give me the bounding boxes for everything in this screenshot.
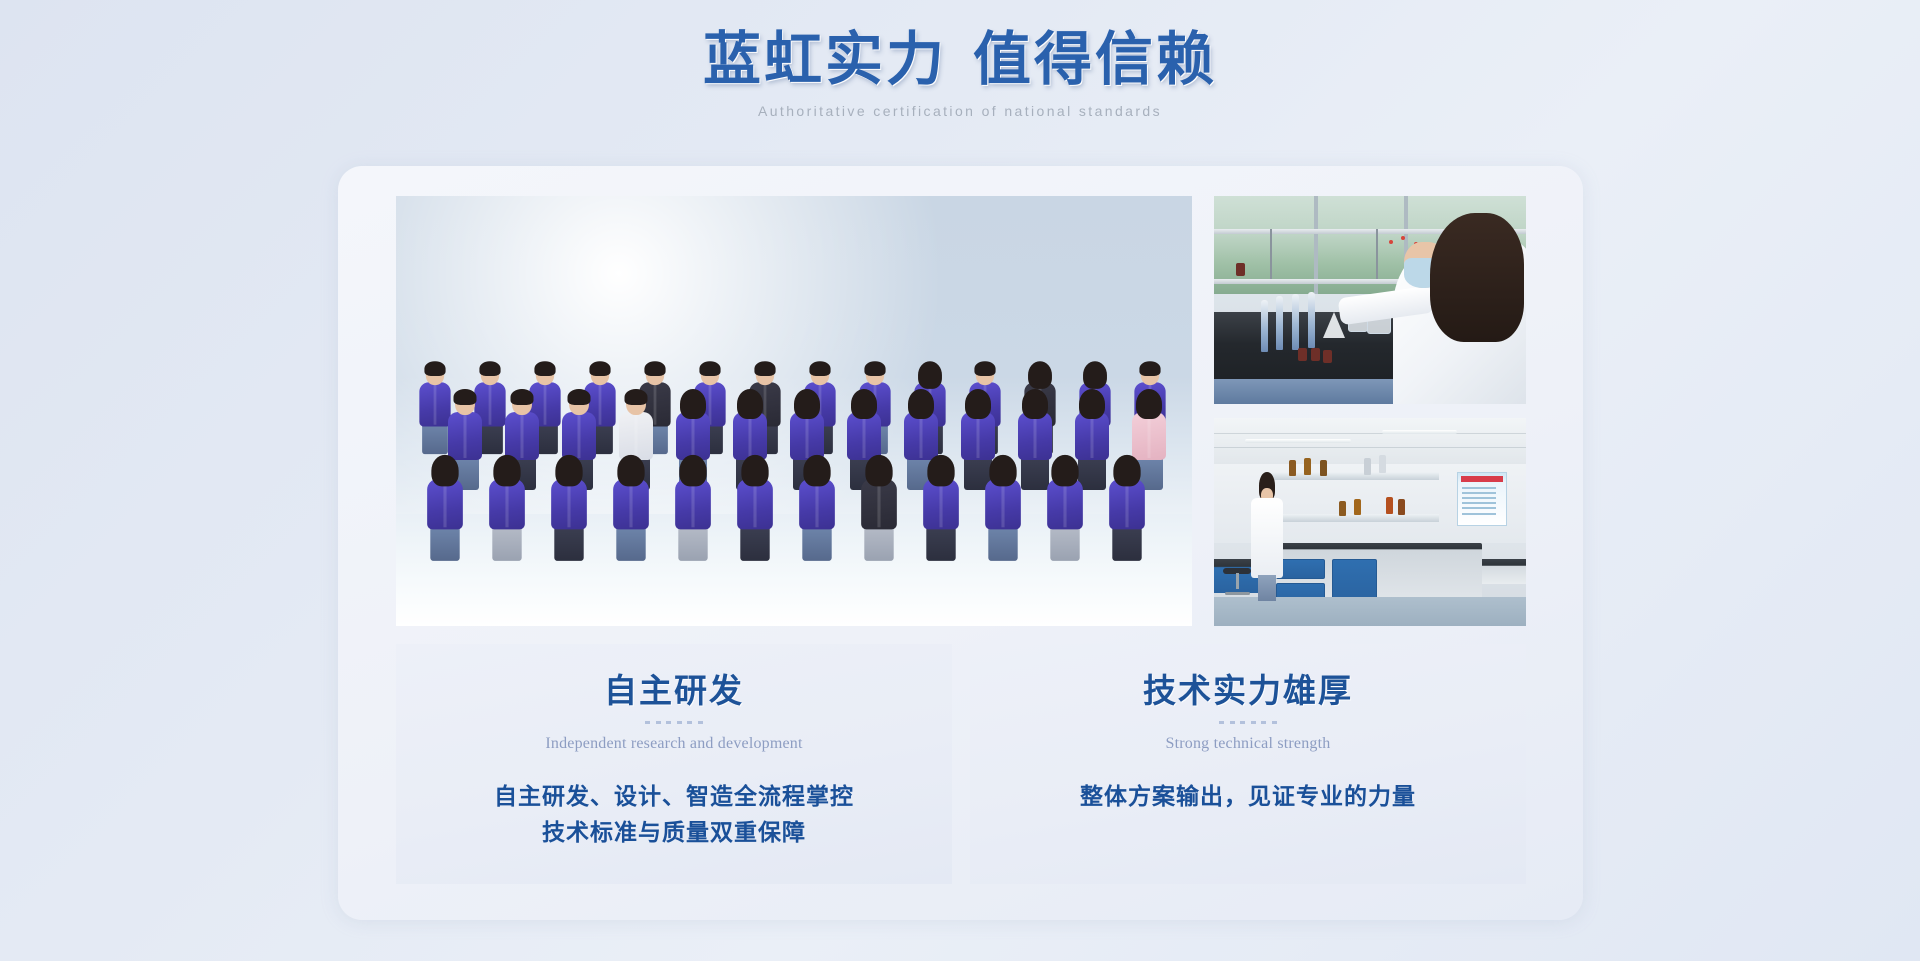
member-hair [974, 361, 995, 376]
member-legs [1112, 525, 1141, 561]
member-legs [492, 525, 521, 561]
member-uniform [733, 412, 767, 460]
stool-pole [1236, 573, 1238, 589]
divider-dot [1240, 721, 1245, 724]
member-uniform [1109, 479, 1145, 529]
reagent-bottle-f [1339, 501, 1346, 516]
reagent-bottle-c [1320, 460, 1327, 476]
member-hair [754, 361, 775, 376]
member-uniform [961, 412, 995, 460]
member-uniform [799, 479, 835, 529]
poster-header-bar [1461, 476, 1503, 482]
member-hair [1139, 361, 1160, 376]
card-title: 技术实力雄厚 [970, 664, 1526, 712]
page-title-part1: 蓝虹实力 [703, 27, 947, 92]
ceiling-light-1 [1245, 439, 1351, 443]
card-divider-dots [645, 721, 703, 725]
member-legs [864, 525, 893, 561]
member-hair [794, 389, 820, 419]
member-hair [1113, 455, 1140, 487]
member-legs [988, 525, 1017, 561]
member-hair [568, 389, 591, 405]
member-uniform [985, 479, 1021, 529]
member-hair [424, 361, 445, 376]
member-uniform [904, 412, 938, 460]
member-hair [1022, 389, 1048, 419]
page-header: 蓝虹实力值得信赖 Authoritative certification of … [0, 26, 1920, 119]
member-uniform [1132, 412, 1166, 460]
feature-card-independent-rd: 自主研发 Independent research and developmen… [396, 644, 952, 884]
member-hair [1051, 455, 1078, 487]
member-uniform [1018, 412, 1052, 460]
member-hair [908, 389, 934, 419]
card-body: 整体方案输出，见证专业的力量 [970, 779, 1526, 815]
shelf-post-1 [1376, 229, 1378, 279]
member-hair [803, 455, 830, 487]
poster-line-6 [1462, 513, 1496, 515]
reagent-bottle-4 [1236, 263, 1245, 276]
member-uniform [489, 479, 525, 529]
cabinet-drawer-1 [1276, 559, 1325, 578]
member-uniform [427, 479, 463, 529]
member-hair [493, 455, 520, 487]
divider-dot [1251, 721, 1256, 724]
reagent-bottle-1 [1298, 348, 1307, 361]
member-uniform [551, 479, 587, 529]
divider-dot [677, 721, 682, 724]
feature-card-technical-strength: 技术实力雄厚 Strong technical strength 整体方案输出，… [970, 644, 1526, 884]
member-hair [965, 389, 991, 419]
card-body-line: 整体方案输出，见证专业的力量 [970, 779, 1526, 815]
card-body-line: 自主研发、设计、智造全流程掌控 [396, 779, 952, 815]
divider-dot [1261, 721, 1266, 724]
member-legs [616, 525, 645, 561]
reagent-bottle-i [1398, 499, 1405, 515]
member-hair [644, 361, 665, 376]
member-hair [927, 455, 954, 487]
card-subtitle: Independent research and development [396, 735, 952, 753]
member-uniform [448, 412, 482, 460]
member-uniform [737, 479, 773, 529]
card-title: 自主研发 [396, 664, 952, 712]
member-hair [865, 455, 892, 487]
member-uniform [1047, 479, 1083, 529]
reagent-bottle-a [1289, 460, 1296, 476]
technician-legs [1258, 575, 1277, 601]
member-uniform [676, 412, 710, 460]
member-hair [918, 361, 942, 389]
member-hair [864, 361, 885, 376]
member-hair [851, 389, 877, 419]
member-uniform [847, 412, 881, 460]
divider-dot [666, 721, 671, 724]
page-subtitle: Authoritative certification of national … [0, 103, 1920, 119]
reagent-bottle-2 [1311, 348, 1320, 361]
reagent-bottle-e [1379, 455, 1386, 473]
page-title: 蓝虹实力值得信赖 [0, 26, 1920, 94]
member-legs [802, 525, 831, 561]
feature-card-list: 自主研发 Independent research and developmen… [396, 644, 1526, 884]
lab-room-technician [1251, 472, 1282, 601]
member-legs [422, 423, 448, 454]
pipette-2 [1276, 296, 1283, 350]
shelf-post-2 [1270, 229, 1272, 279]
member-hair [737, 389, 763, 419]
member-uniform [790, 412, 824, 460]
member-hair [431, 455, 458, 487]
member-hair [1136, 389, 1162, 419]
card-divider-dots [1219, 721, 1277, 725]
pipette-4 [1308, 292, 1315, 348]
member-hair [625, 389, 648, 405]
pipette-3 [1292, 294, 1299, 350]
card-subtitle: Strong technical strength [970, 735, 1526, 753]
member-uniform [505, 412, 539, 460]
member-uniform [1075, 412, 1109, 460]
photo-collage [396, 196, 1526, 626]
member-legs [678, 525, 707, 561]
divider-dot [645, 721, 650, 724]
reagent-shelf-lower [1264, 514, 1439, 522]
divider-dot [698, 721, 703, 724]
member-legs [430, 525, 459, 561]
member-uniform [861, 479, 897, 529]
member-legs [740, 525, 769, 561]
reagent-bottle-d [1364, 458, 1371, 475]
member-hair [534, 361, 555, 376]
member-legs [554, 525, 583, 561]
divider-dot [1219, 721, 1224, 724]
member-uniform [619, 412, 653, 460]
member-uniform [419, 382, 450, 426]
safety-poster [1457, 472, 1507, 526]
lab-floor [1214, 597, 1526, 626]
member-hair [699, 361, 720, 376]
member-hair [741, 455, 768, 487]
member-uniform [613, 479, 649, 529]
member-legs [1021, 456, 1049, 490]
divider-dot [1230, 721, 1235, 724]
card-body: 自主研发、设计、智造全流程掌控 技术标准与质量双重保障 [396, 779, 952, 850]
reagent-bottle-h [1386, 497, 1393, 514]
member-legs [1050, 525, 1079, 561]
member-hair [989, 455, 1016, 487]
reagent-bottle-b [1304, 458, 1311, 475]
pipette-1 [1261, 300, 1268, 352]
molecule-node-1 [1389, 240, 1393, 244]
content-panel: 自主研发 Independent research and developmen… [338, 166, 1583, 920]
member-uniform [923, 479, 959, 529]
poster-line-5 [1462, 507, 1496, 509]
molecule-node-2 [1401, 236, 1405, 240]
technician-lab-coat [1251, 498, 1282, 578]
card-body-line: 技术标准与质量双重保障 [396, 815, 952, 851]
member-hair [1079, 389, 1105, 419]
page-title-part2: 值得信赖 [973, 27, 1217, 92]
lab-technician-photo [1214, 196, 1526, 404]
technician-hair [1430, 213, 1524, 342]
divider-dot [687, 721, 692, 724]
poster-line-4 [1462, 502, 1496, 504]
member-hair [589, 361, 610, 376]
member-hair [479, 361, 500, 376]
member-hair [511, 389, 534, 405]
member-hair [1083, 361, 1107, 389]
group-photo-people [396, 196, 1192, 626]
member-hair [454, 389, 477, 405]
member-legs [926, 525, 955, 561]
lab-stool [1223, 568, 1251, 595]
reagent-bottle-g [1354, 499, 1361, 515]
poster-line-3 [1462, 497, 1496, 499]
poster-line-1 [1462, 487, 1496, 489]
laboratory-room-photo [1214, 418, 1526, 626]
member-hair [809, 361, 830, 376]
divider-dot [1272, 721, 1277, 724]
member-hair [679, 455, 706, 487]
team-group-photo [396, 196, 1192, 626]
member-hair [555, 455, 582, 487]
ceiling-light-2 [1382, 430, 1457, 434]
reagent-bottle-3 [1323, 350, 1332, 363]
promo-page: 蓝虹实力值得信赖 Authoritative certification of … [0, 0, 1920, 961]
ceiling-line-2 [1214, 447, 1526, 448]
member-hair [617, 455, 644, 487]
member-hair [680, 389, 706, 419]
member-uniform [675, 479, 711, 529]
divider-dot [656, 721, 661, 724]
member-uniform [562, 412, 596, 460]
ceiling-line-1 [1214, 433, 1526, 434]
member-hair [1028, 361, 1052, 389]
poster-line-2 [1462, 492, 1496, 494]
stool-base [1225, 592, 1250, 595]
